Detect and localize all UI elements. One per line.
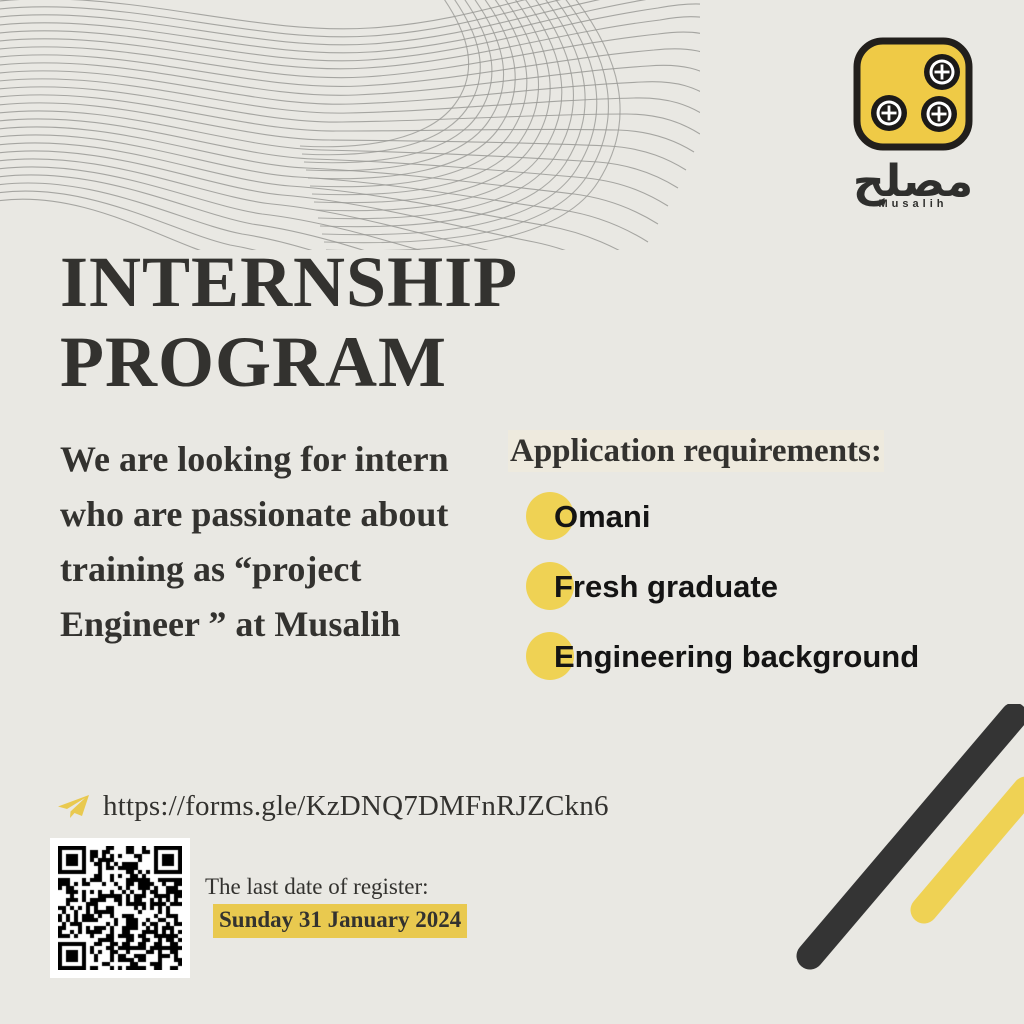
- headline-line-1: INTERNSHIP: [60, 244, 680, 324]
- poster-canvas: مصلح Musalih INTERNSHIP PROGRAM We are l…: [0, 0, 1024, 1024]
- requirement-item: Omani: [508, 486, 1008, 556]
- requirement-label: Engineering background: [554, 626, 1008, 674]
- screw-icon: [921, 96, 957, 132]
- diagonal-accent-bars: [764, 704, 1024, 1024]
- requirements-heading: Application requirements:: [508, 430, 884, 472]
- screw-icon: [871, 95, 907, 131]
- requirement-label: Fresh graduate: [554, 556, 1008, 604]
- requirements-section: Application requirements: Omani Fresh gr…: [508, 430, 1008, 696]
- requirements-list: Omani Fresh graduate Engineering backgro…: [508, 486, 1008, 696]
- diagonal-bar-dark: [810, 716, 1014, 956]
- brand-wordmark: مصلح Musalih: [838, 160, 988, 216]
- paper-plane-icon: [55, 792, 91, 820]
- screw-icon: [924, 54, 960, 90]
- page-title: INTERNSHIP PROGRAM: [60, 244, 680, 404]
- qr-code-image: [58, 846, 182, 970]
- requirement-item: Fresh graduate: [508, 556, 1008, 626]
- requirement-item: Engineering background: [508, 626, 1008, 696]
- headline-line-2: PROGRAM: [60, 324, 680, 404]
- deadline-label: The last date of register:: [205, 872, 535, 902]
- application-link-row[interactable]: https://forms.gle/KzDNQ7DMFnRJZCkn6: [55, 790, 609, 822]
- application-form-url[interactable]: https://forms.gle/KzDNQ7DMFnRJZCkn6: [103, 790, 609, 822]
- brand-logo: مصلح Musalih: [838, 36, 988, 216]
- deadline-block: The last date of register: Sunday 31 Jan…: [205, 872, 535, 938]
- deadline-date: Sunday 31 January 2024: [213, 904, 467, 938]
- requirement-label: Omani: [554, 486, 1008, 534]
- intro-paragraph: We are looking for intern who are passio…: [60, 432, 490, 652]
- qr-code[interactable]: [50, 838, 190, 978]
- wave-lines-decoration: [0, 0, 700, 250]
- musalih-logo-icon: [851, 36, 975, 154]
- diagonal-bar-yellow: [924, 790, 1024, 910]
